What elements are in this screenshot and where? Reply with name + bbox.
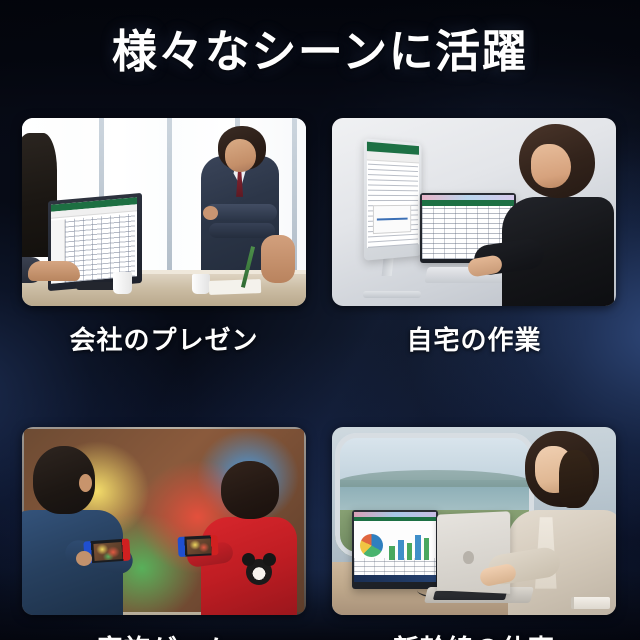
scene-card-home-work[interactable]	[332, 118, 616, 306]
scene-photo-shinkansen-work	[332, 427, 616, 615]
coffee-cup	[192, 274, 210, 294]
father-ear	[79, 474, 92, 492]
scene-caption-shinkansen-work: 新幹線の仕事	[332, 629, 616, 640]
scene-grid: 会社のプレゼン	[22, 118, 618, 640]
coffee-cup	[113, 272, 132, 294]
scene-cell-office-presentation: 会社のプレゼン	[22, 118, 306, 357]
scene-caption-home-work: 自宅の作業	[332, 320, 616, 357]
window-mullion	[167, 118, 172, 276]
woman-hair	[559, 450, 593, 508]
laptop-logo	[463, 551, 474, 564]
pie-chart	[360, 534, 383, 557]
father-hand	[76, 551, 92, 566]
child-head	[221, 461, 279, 519]
portable-monitor-screen	[354, 512, 436, 582]
notebook	[571, 597, 610, 609]
page-title: 様々なシーンに活躍	[0, 26, 640, 79]
colleague-hand	[261, 235, 295, 283]
promo-banner: 様々なシーンに活躍	[0, 0, 640, 640]
man-face	[531, 144, 571, 188]
monitor-stand	[76, 282, 118, 290]
handheld-console-screen	[94, 542, 123, 561]
seated-person-hand	[28, 261, 80, 281]
scene-card-office-presentation[interactable]	[22, 118, 306, 306]
bar-chart	[389, 533, 429, 560]
scene-cell-shinkansen-work: 新幹線の仕事	[332, 427, 616, 640]
imac-screen	[367, 141, 419, 247]
scene-card-family-game[interactable]	[22, 427, 306, 615]
scene-cell-family-game: 家族ゲーム	[22, 427, 306, 640]
handheld-console-screen	[186, 538, 211, 554]
standing-man-arm	[209, 223, 275, 238]
scene-photo-office-presentation	[22, 118, 306, 306]
scene-caption-family-game: 家族ゲーム	[22, 629, 306, 640]
scene-photo-family-game	[22, 427, 306, 615]
imac-display	[364, 138, 422, 260]
scene-photo-home-work	[332, 118, 616, 306]
standing-man-face	[225, 139, 256, 172]
paper-document	[209, 279, 261, 295]
scene-cell-home-work: 自宅の作業	[332, 118, 616, 357]
scene-row-1: 会社のプレゼン	[22, 118, 618, 357]
scene-caption-office-presentation: 会社のプレゼン	[22, 320, 306, 357]
mickey-print	[246, 559, 272, 585]
imac-foot	[363, 291, 421, 298]
scene-card-shinkansen-work[interactable]	[332, 427, 616, 615]
scene-row-2: 家族ゲーム	[22, 427, 618, 640]
